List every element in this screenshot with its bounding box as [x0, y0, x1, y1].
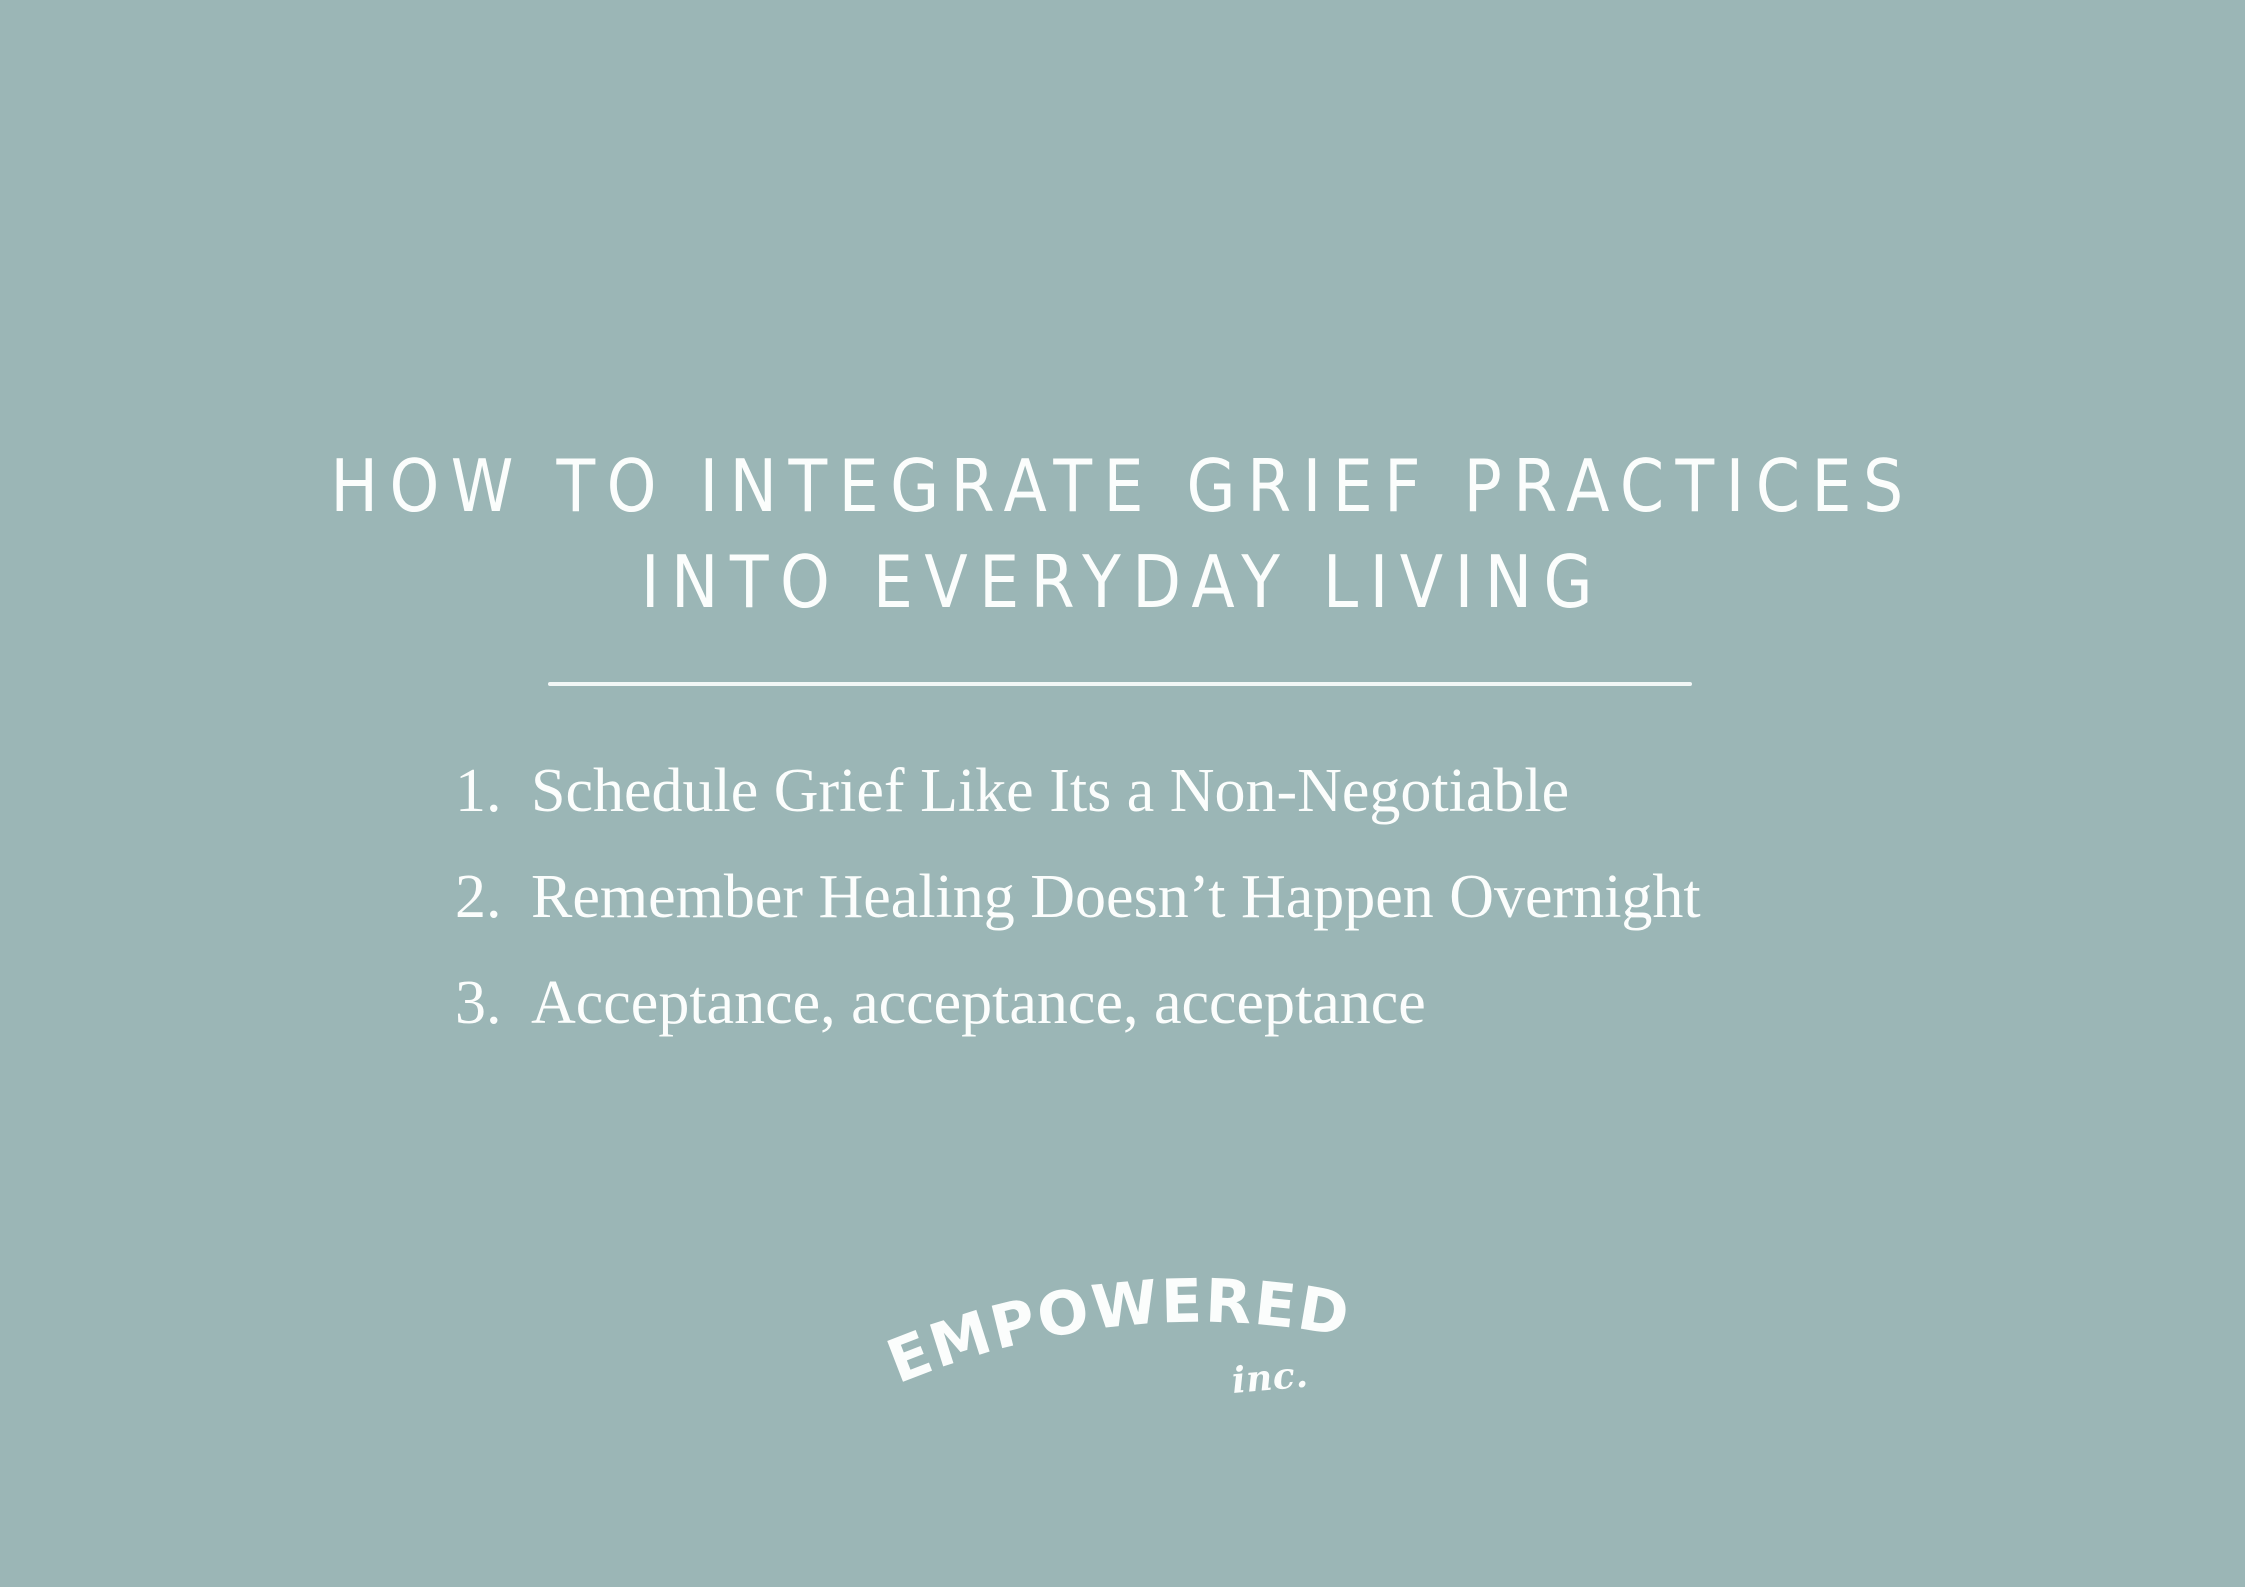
- grief-practices-card: How to Integrate Grief Practices Into Ev…: [0, 0, 2245, 1587]
- list-item-label: Acceptance, acceptance, acceptance: [531, 952, 1795, 1054]
- practices-list: 1. Schedule Grief Like Its a Non-Negotia…: [455, 740, 1795, 1054]
- list-item: 3. Acceptance, acceptance, acceptance: [455, 952, 1795, 1054]
- page-title: How to Integrate Grief Practices Into Ev…: [0, 438, 2245, 630]
- list-item-label: Remember Healing Doesn’t Happen Overnigh…: [531, 846, 1795, 948]
- page-title-line-2: Into Everyday Living: [135, 534, 2111, 630]
- brand-suffix-text: inc.: [1230, 1353, 1310, 1401]
- list-item: 1. Schedule Grief Like Its a Non-Negotia…: [455, 740, 1795, 842]
- page-title-line-1: How to Integrate Grief Practices: [135, 438, 2111, 534]
- brand-logo: EMPOWERED inc.: [880, 1272, 1370, 1442]
- list-item-number: 2.: [455, 846, 531, 948]
- list-item-number: 1.: [455, 740, 531, 842]
- practices-list-container: 1. Schedule Grief Like Its a Non-Negotia…: [455, 740, 1795, 1058]
- title-divider: [548, 682, 1692, 686]
- list-item: 2. Remember Healing Doesn’t Happen Overn…: [455, 846, 1795, 948]
- list-item-number: 3.: [455, 952, 531, 1054]
- list-item-label: Schedule Grief Like Its a Non-Negotiable: [531, 740, 1795, 842]
